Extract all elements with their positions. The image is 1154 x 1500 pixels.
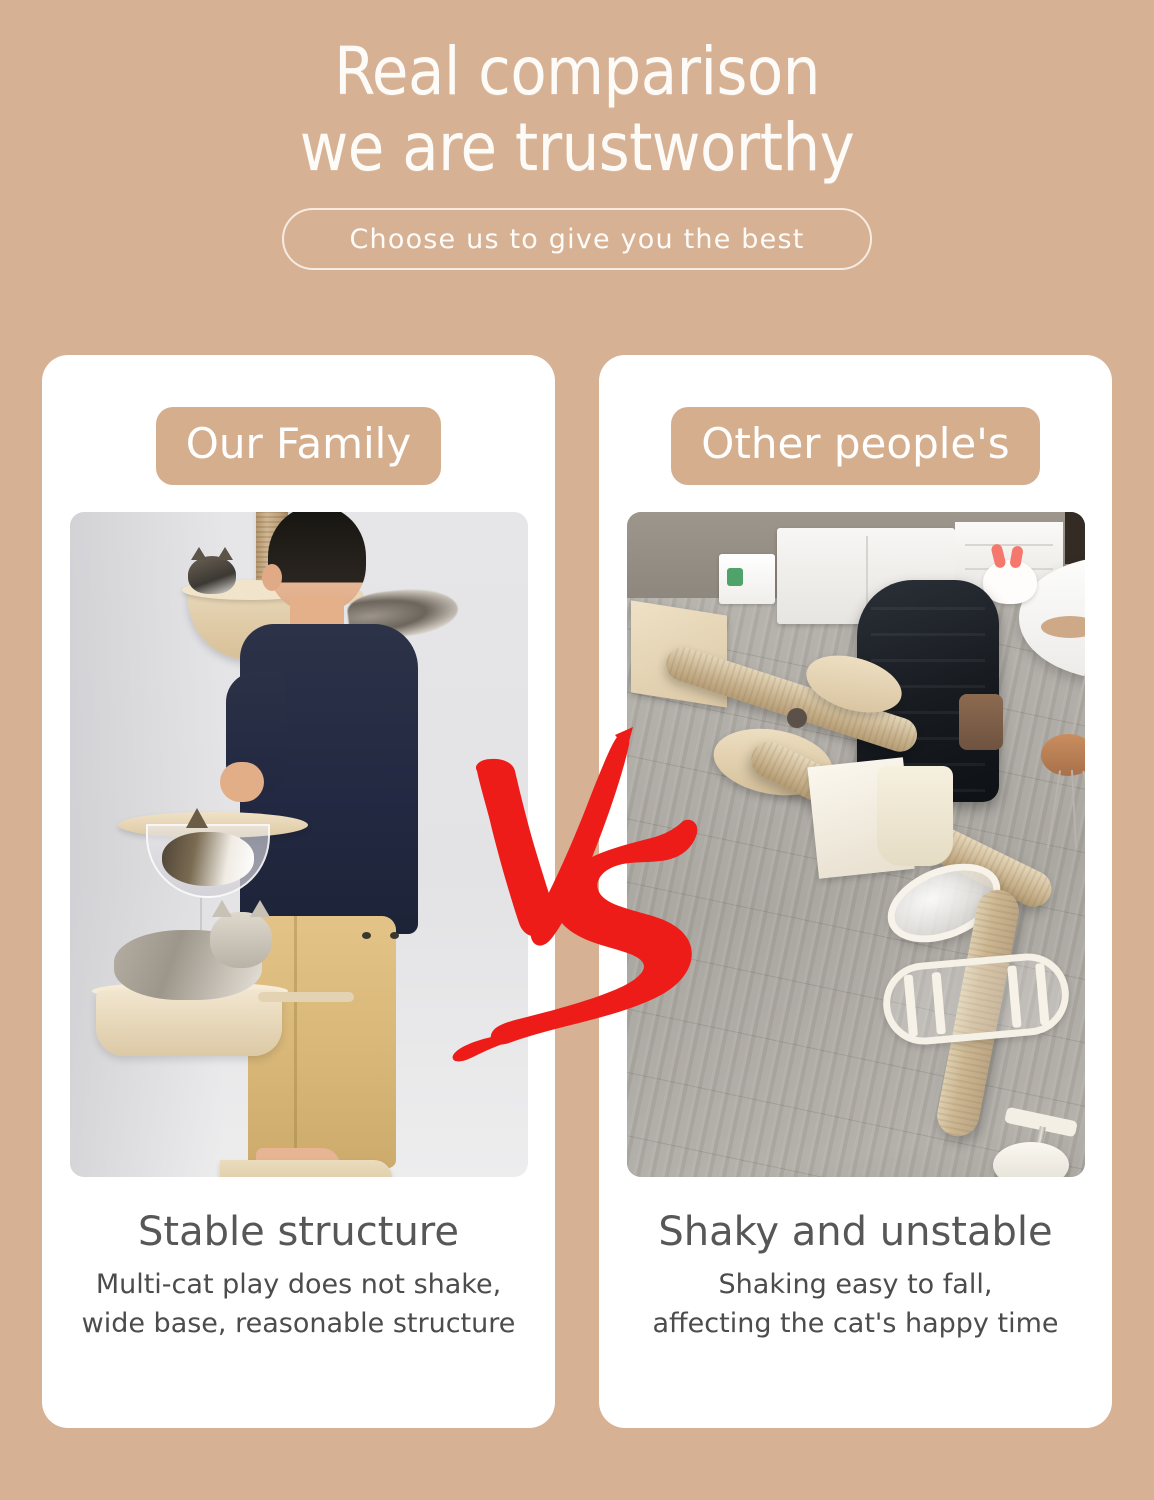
comparison-cards: Our Family: [42, 355, 1112, 1428]
tagline-pill-wrap: Choose us to give you the best: [0, 208, 1154, 270]
photo-other-people: [627, 512, 1085, 1177]
cat-lower-head: [210, 912, 272, 968]
cat-eye-left: [362, 932, 371, 939]
caption-body-shaky-line-2: affecting the cat's happy time: [599, 1304, 1112, 1343]
caption-title-shaky: Shaky and unstable: [599, 1209, 1112, 1255]
person-forearm: [220, 762, 264, 802]
cat-eye-right: [390, 932, 399, 939]
page-title-line-2: we are trustworthy: [0, 110, 1154, 186]
page-title-line-1: Real comparison: [334, 33, 820, 110]
caption-body-stable-line-2: wide base, reasonable structure: [42, 1304, 555, 1343]
caption-body-stable-line-1: Multi-cat play does not shake,: [42, 1265, 555, 1304]
caption-body-shaky-line-1: Shaking easy to fall,: [599, 1265, 1112, 1304]
card-badge-our-family: Our Family: [156, 407, 441, 485]
loose-ball: [787, 708, 807, 728]
comparison-card-our-family: Our Family: [42, 355, 555, 1428]
tan-chair-legs: [1047, 770, 1085, 850]
tagline-pill: Choose us to give you the best: [282, 208, 872, 270]
wide-base-board: [220, 1160, 392, 1177]
photo-our-family: [70, 512, 528, 1177]
caption-body-stable: Multi-cat play does not shake, wide base…: [42, 1265, 555, 1343]
caption-body-shaky: Shaking easy to fall, affecting the cat'…: [599, 1265, 1112, 1343]
card-badge-other-people: Other people's: [671, 407, 1039, 485]
support-rod: [258, 992, 354, 1002]
wooden-chair-back: [959, 694, 1003, 750]
toy-box: [719, 554, 775, 604]
dark-doorway: [1065, 512, 1085, 564]
caption-our-family: Stable structure Multi-cat play does not…: [42, 1209, 555, 1343]
caption-other-people: Shaky and unstable Shaking easy to fall,…: [599, 1209, 1112, 1343]
comparison-card-other-people: Other people's: [599, 355, 1112, 1428]
page-title: Real comparison we are trustworthy: [0, 34, 1154, 186]
cat-middle-ear: [186, 808, 208, 828]
cat-middle-icon: [162, 832, 254, 886]
fabric-sling: [877, 766, 953, 866]
caption-title-stable: Stable structure: [42, 1209, 555, 1255]
page-header: Real comparison we are trustworthy Choos…: [0, 0, 1154, 270]
cat-upper-icon: [188, 556, 236, 594]
person-ear: [262, 564, 282, 591]
